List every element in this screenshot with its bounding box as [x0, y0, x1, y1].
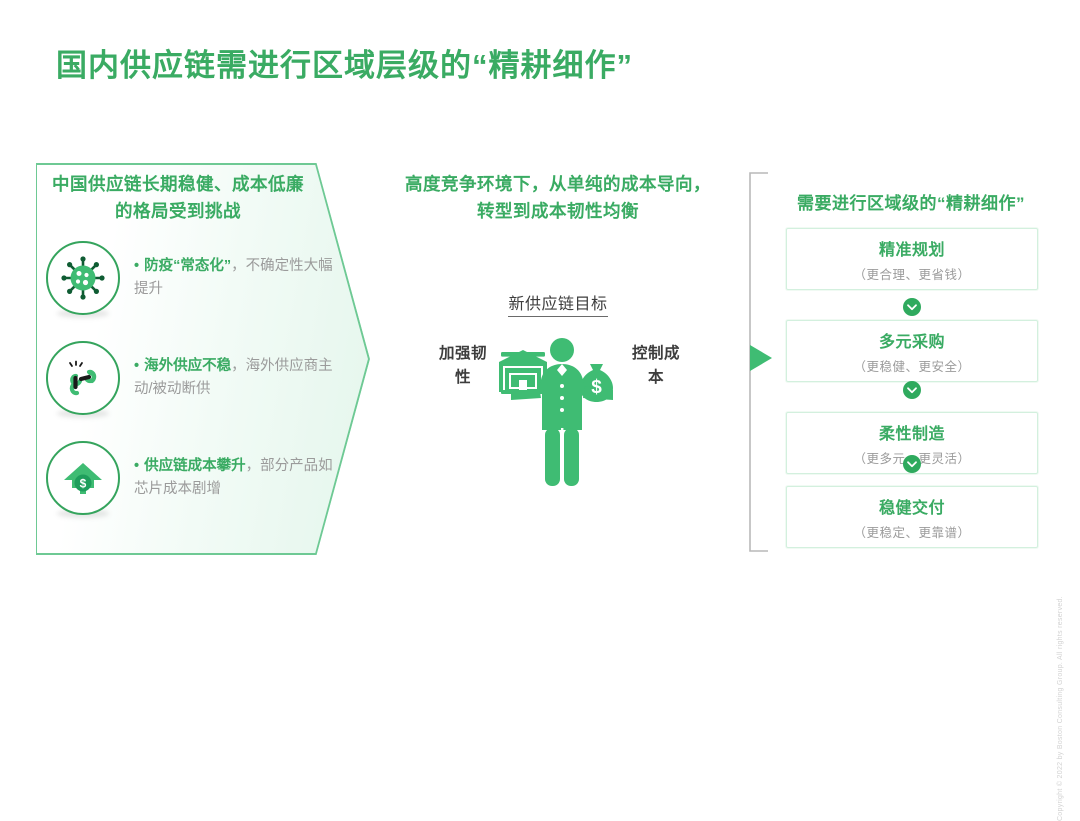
balancing-person-warehouse-moneybag-icon: $: [495, 330, 630, 495]
bullet-marker: •: [134, 258, 139, 274]
stage-title: 多元采购: [879, 328, 945, 352]
virus-icon: [46, 241, 120, 315]
middle-label-resilience: 加强韧性: [435, 342, 491, 390]
challenge-icon-wrap-1: [46, 241, 120, 315]
broken-chain-icon: [46, 341, 120, 415]
stage-subtitle: （更合理、更省钱）: [853, 264, 970, 283]
challenge-lead-2: 海外供应不稳: [144, 358, 231, 374]
stage-card-planning[interactable]: 精准规划 （更合理、更省钱）: [786, 228, 1038, 290]
chevron-down-circle-icon: [903, 455, 921, 473]
challenge-lead-3: 供应链成本攀升: [144, 458, 246, 474]
middle-label-cost: 控制成本: [628, 342, 684, 390]
right-panel-heading: 需要进行区域级的“精耕细作”: [766, 189, 1056, 214]
stage-title: 精准规划: [879, 236, 945, 260]
bullet-marker: •: [134, 358, 139, 374]
middle-panel-heading: 高度竞争环境下，从单纯的成本导向，转型到成本韧性均衡: [398, 171, 718, 225]
middle-panel-subtitle-wrap: 新供应链目标: [398, 290, 718, 314]
stage-subtitle: （更稳健、更安全）: [853, 356, 970, 375]
stage-subtitle: （更稳定、更靠谱）: [853, 522, 970, 541]
stage-title: 柔性制造: [879, 420, 945, 444]
stage-card-delivery[interactable]: 稳健交付 （更稳定、更靠谱）: [786, 486, 1038, 548]
svg-text:$: $: [80, 477, 87, 491]
stage-card-sourcing[interactable]: 多元采购 （更稳健、更安全）: [786, 320, 1038, 382]
left-panel-heading: 中国供应链长期稳健、成本低廉的格局受到挑战: [44, 171, 312, 225]
svg-text:$: $: [591, 377, 602, 398]
rising-cost-arrow-icon: $: [46, 441, 120, 515]
challenge-icon-wrap-3: $: [46, 441, 120, 515]
challenge-text-1: •防疫“常态化”，不确定性大幅提升: [134, 241, 344, 302]
page-title: 国内供应链需进行区域层级的“精耕细作”: [56, 40, 633, 85]
play-triangle-right-icon: [749, 344, 773, 372]
middle-panel-subtitle: 新供应链目标: [508, 296, 607, 317]
chevron-down-circle-icon: [903, 298, 921, 316]
bullet-marker: •: [134, 458, 139, 474]
challenge-icon-wrap-2: [46, 341, 120, 415]
challenge-item-1: •防疫“常态化”，不确定性大幅提升: [46, 241, 346, 315]
left-challenges-panel: 中国供应链长期稳健、成本低廉的格局受到挑战: [36, 163, 370, 555]
challenge-lead-1: 防疫“常态化”: [144, 258, 231, 274]
chevron-down-circle-icon: [903, 381, 921, 399]
challenge-text-3: •供应链成本攀升，部分产品如芯片成本剧增: [134, 441, 344, 502]
stage-title: 稳健交付: [879, 494, 945, 518]
challenge-item-3: $ •供应链成本攀升，部分产品如芯片成本剧增: [46, 441, 346, 515]
challenge-item-2: •海外供应不稳，海外供应商主动/被动断供: [46, 341, 346, 415]
challenge-text-2: •海外供应不稳，海外供应商主动/被动断供: [134, 341, 344, 402]
copyright-notice: Copyright © 2022 by Boston Consulting Gr…: [1057, 596, 1064, 821]
